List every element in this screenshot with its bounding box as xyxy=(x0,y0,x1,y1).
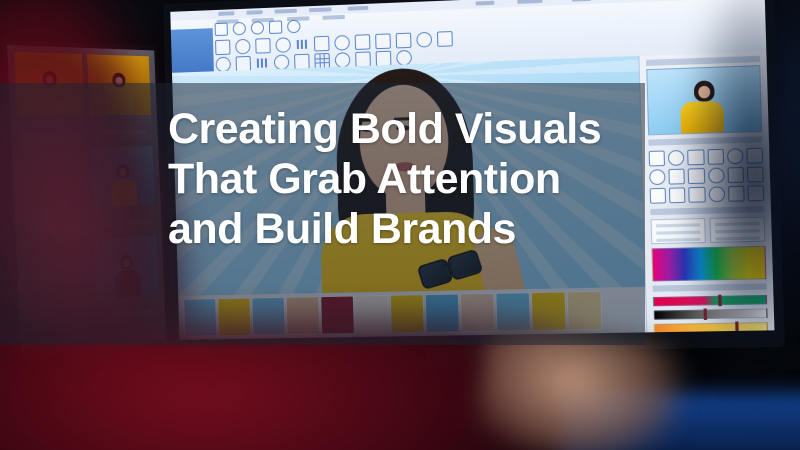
brush-icon[interactable] xyxy=(215,23,228,37)
menu-item-select[interactable] xyxy=(309,7,331,12)
settings-icon[interactable] xyxy=(416,32,432,48)
search-icon[interactable] xyxy=(649,169,666,185)
pause-icon[interactable] xyxy=(437,31,453,47)
screenshot-stage: Creating Bold Visuals That Grab Attentio… xyxy=(0,0,800,450)
target-icon[interactable] xyxy=(233,22,246,36)
export-icon[interactable] xyxy=(396,33,412,49)
grid-icon[interactable] xyxy=(650,188,667,204)
menu-item-view[interactable] xyxy=(476,1,495,6)
clock-icon[interactable] xyxy=(275,37,291,53)
record-icon[interactable] xyxy=(251,21,264,35)
anchor-icon[interactable] xyxy=(235,39,251,55)
page-title: Creating Bold Visuals That Grab Attentio… xyxy=(168,104,638,254)
stamp-icon[interactable] xyxy=(649,150,666,166)
menu-item-file[interactable] xyxy=(218,11,234,16)
transform-icon[interactable] xyxy=(215,40,230,56)
save-icon[interactable] xyxy=(375,33,391,49)
duplicate-icon[interactable] xyxy=(314,36,330,52)
person-icon[interactable] xyxy=(287,20,301,34)
layers-icon[interactable] xyxy=(255,38,271,54)
sliders-icon[interactable] xyxy=(256,56,269,70)
menu-item-insert[interactable] xyxy=(275,9,297,14)
menu-item-window[interactable] xyxy=(517,0,542,4)
menu-item-edit[interactable] xyxy=(246,10,262,15)
columns-icon[interactable] xyxy=(296,38,310,52)
square-icon[interactable] xyxy=(269,20,283,34)
tag-icon[interactable] xyxy=(334,35,350,51)
menu-item-help[interactable] xyxy=(572,0,591,2)
menu-item-effects[interactable] xyxy=(348,6,369,11)
foreground-dark-right xyxy=(680,0,800,390)
warning-icon[interactable] xyxy=(355,34,371,50)
